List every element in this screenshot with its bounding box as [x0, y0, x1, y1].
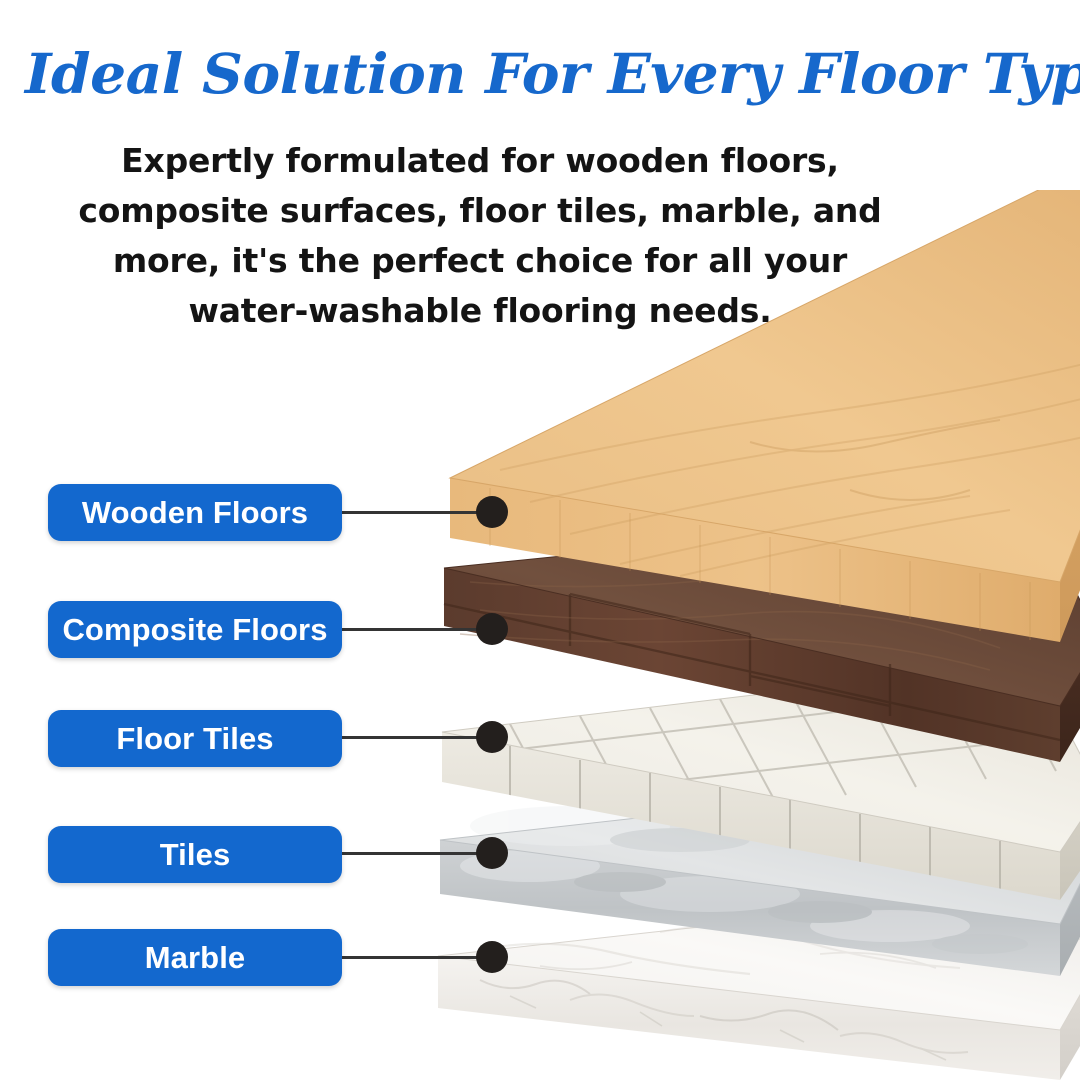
anchor-dot-marble — [476, 941, 508, 973]
anchor-dot-composite-floors — [476, 613, 508, 645]
anchor-dot-wooden-floors — [476, 496, 508, 528]
callout-label-wooden-floors: Wooden Floors — [82, 497, 308, 528]
callout-label-floor-tiles: Floor Tiles — [116, 723, 273, 754]
leader-line-composite-floors — [342, 628, 494, 631]
callout-label-marble: Marble — [145, 942, 246, 973]
callout-label-composite-floors: Composite Floors — [62, 614, 327, 645]
leader-line-tiles — [342, 852, 494, 855]
description-line-1: Expertly formulated for wooden floors, — [70, 136, 890, 186]
callout-badge-composite-floors[interactable]: Composite Floors — [48, 601, 342, 658]
flooring-stack-illustration — [420, 190, 1080, 1080]
leader-line-marble — [342, 956, 494, 959]
callout-badge-floor-tiles[interactable]: Floor Tiles — [48, 710, 342, 767]
callout-badge-marble[interactable]: Marble — [48, 929, 342, 986]
anchor-dot-floor-tiles — [476, 721, 508, 753]
callout-badge-tiles[interactable]: Tiles — [48, 826, 342, 883]
poster-canvas: Ideal Solution For Every Floor Type. Exp… — [0, 0, 1080, 1080]
leader-line-wooden-floors — [342, 511, 494, 514]
callout-label-tiles: Tiles — [160, 839, 231, 870]
leader-line-floor-tiles — [342, 736, 494, 739]
callout-badge-wooden-floors[interactable]: Wooden Floors — [48, 484, 342, 541]
anchor-dot-tiles — [476, 837, 508, 869]
slab-stack-svg — [420, 190, 1080, 1080]
page-title: Ideal Solution For Every Floor Type. — [25, 44, 1055, 106]
